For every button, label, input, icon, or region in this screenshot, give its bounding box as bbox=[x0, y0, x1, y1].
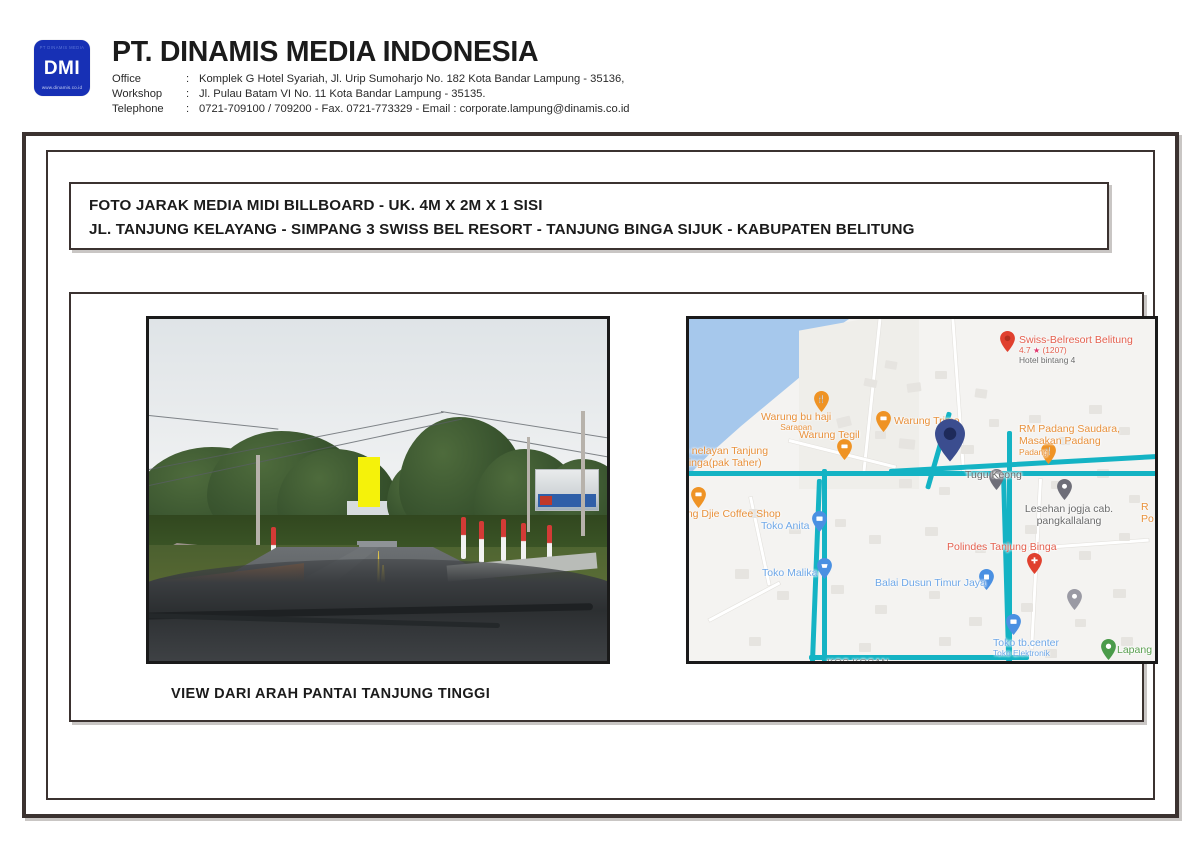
logo-website-text: www.dinamis.co.id bbox=[34, 86, 90, 91]
flag-banner bbox=[479, 521, 484, 563]
building-footprint bbox=[1129, 495, 1140, 503]
contact-row-telephone: Telephone : 0721-709100 / 709200 - Fax. … bbox=[112, 102, 630, 117]
title-line-2: JL. TANJUNG KELAYANG - SIMPANG 3 SWISS B… bbox=[89, 218, 1107, 242]
ong-djie-coffee-shop-pin[interactable] bbox=[691, 487, 706, 508]
building-footprint bbox=[935, 371, 947, 379]
building-footprint bbox=[869, 535, 881, 544]
rating-value: 4.7 bbox=[1019, 345, 1031, 355]
place-category: Padang bbox=[1019, 448, 1139, 458]
contact-separator: : bbox=[186, 87, 199, 102]
building-footprint bbox=[974, 388, 987, 399]
dmi-logo: PT DINAMIS MEDIA DMI www.dinamis.co.id bbox=[34, 40, 90, 96]
warung-tegil-pin[interactable] bbox=[837, 439, 852, 460]
building-footprint bbox=[749, 637, 761, 646]
location-map[interactable]: Swiss-Belresort Belitung 4.7 ★ (1207) Ho… bbox=[686, 316, 1158, 664]
car-dashboard bbox=[149, 559, 607, 661]
building-footprint bbox=[831, 585, 844, 594]
map-canvas[interactable]: Swiss-Belresort Belitung 4.7 ★ (1207) Ho… bbox=[689, 319, 1155, 661]
toko-anita-label[interactable]: Toko Anita bbox=[761, 520, 809, 532]
contact-row-workshop: Workshop : Jl. Pulau Batam VI No. 11 Kot… bbox=[112, 87, 630, 102]
building-footprint bbox=[1113, 589, 1126, 598]
contact-value: Komplek G Hotel Syariah, Jl. Urip Sumoha… bbox=[199, 72, 630, 87]
warung-trimo-pin[interactable] bbox=[876, 411, 891, 432]
place-name: o nelayan Tanjung binga(pak Taher) bbox=[689, 445, 791, 470]
header-text-block: PT. DINAMIS MEDIA INDONESIA Office : Kom… bbox=[112, 38, 630, 117]
building-footprint bbox=[859, 643, 871, 652]
building-footprint bbox=[929, 591, 940, 599]
building-footprint bbox=[939, 487, 950, 495]
toko-malika-pin[interactable] bbox=[817, 558, 832, 579]
utility-pole bbox=[581, 411, 585, 536]
nelayan-tanjung-binga-label[interactable]: o nelayan Tanjung binga(pak Taher) bbox=[689, 445, 791, 470]
roadside-signboard bbox=[535, 469, 599, 511]
ong-djie-coffee-shop-label[interactable]: ong Djie Coffee Shop bbox=[689, 508, 781, 520]
warung-bu-haji-pin[interactable]: 🍴 bbox=[814, 391, 829, 412]
site-photo bbox=[146, 316, 610, 664]
place-name: RM Padang Saudara, Masakan Padang bbox=[1019, 423, 1139, 448]
minor-road bbox=[708, 582, 780, 622]
building-footprint bbox=[875, 431, 886, 439]
contact-value: 0721-709100 / 709200 - Fax. 0721-773329 … bbox=[199, 102, 630, 117]
building-footprint bbox=[989, 419, 999, 427]
polindes-tanjung-binga-label[interactable]: Polindes Tanjung Binga bbox=[947, 541, 1057, 553]
flag-banner bbox=[461, 517, 466, 559]
building-footprint bbox=[875, 605, 887, 614]
lesehan-jogja-pin[interactable] bbox=[1057, 479, 1072, 500]
rm-padang-saudara-label[interactable]: RM Padang Saudara, Masakan Padang Padang bbox=[1019, 423, 1139, 458]
warung-tegil-label[interactable]: Warung Tegil bbox=[799, 429, 860, 441]
toko-tb-center-label[interactable]: Toko tb.center Toko Elektronik bbox=[993, 637, 1059, 659]
tugu-keong-label[interactable]: Tugu Keong bbox=[965, 469, 1022, 481]
billboard-site-pin[interactable] bbox=[935, 419, 965, 461]
contact-label: Office bbox=[112, 72, 186, 87]
building-footprint bbox=[777, 591, 789, 600]
contact-row-office: Office : Komplek G Hotel Syariah, Jl. Ur… bbox=[112, 72, 630, 87]
building-footprint bbox=[1021, 603, 1033, 612]
flag-banner bbox=[501, 519, 506, 561]
photo-canvas bbox=[149, 319, 607, 661]
building-footprint bbox=[835, 519, 846, 527]
building-footprint bbox=[1029, 415, 1041, 423]
contact-separator: : bbox=[186, 102, 199, 117]
company-name: PT. DINAMIS MEDIA INDONESIA bbox=[112, 38, 630, 68]
toko-tb-center-pin[interactable] bbox=[1006, 614, 1021, 635]
building-footprint bbox=[925, 527, 938, 536]
swiss-belresort-label[interactable]: Swiss-Belresort Belitung 4.7 ★ (1207) Ho… bbox=[1019, 334, 1133, 366]
document-page: PT DINAMIS MEDIA DMI www.dinamis.co.id P… bbox=[0, 0, 1200, 848]
building-footprint bbox=[969, 617, 982, 626]
building-footprint bbox=[1089, 405, 1102, 414]
balai-dusun-timur-jaya-label[interactable]: Balai Dusun Timur Jaya bbox=[875, 577, 986, 589]
inner-frame: FOTO JARAK MEDIA MIDI BILLBOARD - UK. 4M… bbox=[46, 150, 1155, 800]
lesehan-jogja-label[interactable]: Lesehan jogja cab. pangkallalang bbox=[1009, 503, 1129, 528]
signboard-red-panel bbox=[540, 496, 552, 505]
building-footprint bbox=[939, 637, 951, 646]
contact-label: Workshop bbox=[112, 87, 186, 102]
photo-caption: VIEW DARI ARAH PANTAI TANJUNG TINGGI bbox=[171, 686, 490, 702]
outer-frame: FOTO JARAK MEDIA MIDI BILLBOARD - UK. 4M… bbox=[22, 132, 1179, 818]
title-block: FOTO JARAK MEDIA MIDI BILLBOARD - UK. 4M… bbox=[69, 182, 1109, 250]
building-footprint bbox=[899, 479, 912, 488]
toko-anita-pin[interactable] bbox=[812, 511, 827, 532]
place-category: Hotel bintang 4 bbox=[1019, 356, 1133, 366]
place-category: Toko Elektronik bbox=[993, 649, 1059, 659]
polindes-tanjung-binga-pin[interactable] bbox=[1027, 553, 1042, 574]
lapang-label[interactable]: Lapang bbox=[1117, 644, 1152, 656]
contact-details-table: Office : Komplek G Hotel Syariah, Jl. Ur… bbox=[112, 72, 630, 117]
toko-malika-label[interactable]: Toko Malika bbox=[762, 567, 817, 579]
logo-top-text: PT DINAMIS MEDIA bbox=[34, 46, 90, 50]
building-footprint bbox=[1079, 551, 1091, 560]
building-footprint bbox=[735, 569, 749, 579]
content-panel: VIEW DARI ARAH PANTAI TANJUNG TINGGI bbox=[69, 292, 1144, 722]
contact-separator: : bbox=[186, 72, 199, 87]
contact-value: Jl. Pulau Batam VI No. 11 Kota Bandar La… bbox=[199, 87, 630, 102]
right-edge-place-label[interactable]: R Po bbox=[1141, 501, 1155, 526]
svg-text:🍴: 🍴 bbox=[817, 395, 826, 404]
building-footprint bbox=[906, 382, 921, 393]
logo-initials: DMI bbox=[34, 59, 90, 78]
review-count: (1207) bbox=[1042, 345, 1066, 355]
kos-kosan-label[interactable]: KOS KOSAN bbox=[827, 657, 889, 661]
building-footprint bbox=[1075, 619, 1086, 627]
place-name: R Po bbox=[1141, 501, 1155, 526]
utility-pole bbox=[527, 437, 530, 532]
building-footprint bbox=[1119, 533, 1130, 541]
contact-label: Telephone bbox=[112, 102, 186, 117]
title-line-1: FOTO JARAK MEDIA MIDI BILLBOARD - UK. 4M… bbox=[89, 194, 1107, 218]
place-name: Swiss-Belresort Belitung bbox=[1019, 334, 1133, 346]
billboard-location-marker bbox=[358, 457, 380, 507]
unlabeled-place-pin[interactable] bbox=[1067, 589, 1082, 610]
letterhead-header: PT DINAMIS MEDIA DMI www.dinamis.co.id P… bbox=[34, 38, 814, 118]
lapang-pin[interactable] bbox=[1101, 639, 1116, 660]
swiss-belresort-pin[interactable] bbox=[1000, 331, 1015, 352]
building-footprint bbox=[899, 438, 916, 450]
